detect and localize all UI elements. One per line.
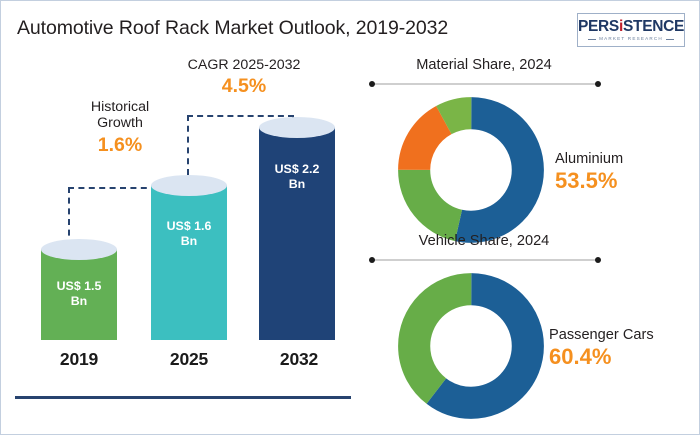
bar-2032-cap (259, 117, 335, 138)
logo-left-tick-icon (588, 39, 596, 40)
brand-logo: PERSiSTENCE MARKET RESEARCH (577, 13, 685, 47)
bar-chart: Historical Growth 1.6% CAGR 2025-2032 4.… (1, 57, 359, 435)
vehicle-share-legend: Passenger Cars 60.4% (549, 327, 654, 370)
logo-wordmark: PERSiSTENCE (578, 19, 684, 35)
logo-word-part2: STENCE (623, 18, 684, 35)
material-share-title: Material Share, 2024 (359, 57, 609, 73)
bar-2019-value: US$ 1.5 Bn (41, 279, 117, 309)
bar-2025-value: US$ 1.6 Bn (151, 219, 227, 249)
vehicle-share-legend-label: Passenger Cars (549, 327, 654, 343)
material-share-chart: Material Share, 2024 Aluminium 53.5% (359, 57, 700, 247)
logo-right-tick-icon (666, 39, 674, 40)
bar-2025-cap (151, 175, 227, 196)
material-share-legend-value: 53.5% (555, 168, 623, 194)
bar-2025[interactable]: US$ 1.6 Bn (151, 185, 227, 340)
bar-2032-value: US$ 2.2 Bn (259, 162, 335, 192)
material-share-divider (372, 83, 598, 85)
bar-label-2019: 2019 (21, 349, 137, 370)
vehicle-share-chart: Vehicle Share, 2024 Passenger Cars 60.4% (359, 233, 700, 428)
material-share-legend: Aluminium 53.5% (555, 151, 623, 194)
vehicle-share-title: Vehicle Share, 2024 (359, 233, 609, 249)
bar-2019-cap (41, 239, 117, 260)
bar-group-2032[interactable]: US$ 2.2 Bn 2032 (241, 57, 357, 435)
vehicle-segment-2[interactable] (414, 289, 528, 403)
page-title: Automotive Roof Rack Market Outlook, 201… (17, 17, 448, 40)
logo-word-part1: PERS (578, 18, 619, 35)
logo-tagline: MARKET RESEARCH (599, 37, 663, 42)
bar-label-2032: 2032 (241, 349, 357, 370)
bar-2019[interactable]: US$ 1.5 Bn (41, 249, 117, 340)
share-charts-panel: Material Share, 2024 Aluminium 53.5% Veh… (359, 57, 700, 435)
vehicle-share-donut[interactable] (396, 271, 546, 421)
vehicle-share-legend-value: 60.4% (549, 344, 654, 370)
material-share-donut[interactable] (396, 95, 546, 245)
logo-tagline-row: MARKET RESEARCH (588, 37, 674, 42)
material-segment-4[interactable] (414, 113, 528, 227)
bar-2032[interactable]: US$ 2.2 Bn (259, 127, 335, 340)
infographic-canvas: Automotive Roof Rack Market Outlook, 201… (0, 0, 700, 435)
material-share-legend-label: Aluminium (555, 151, 623, 167)
bar-group-2025[interactable]: US$ 1.6 Bn 2025 (131, 57, 247, 435)
vehicle-share-divider (372, 259, 598, 261)
bar-label-2025: 2025 (131, 349, 247, 370)
bar-group-2019[interactable]: US$ 1.5 Bn 2019 (21, 57, 137, 435)
